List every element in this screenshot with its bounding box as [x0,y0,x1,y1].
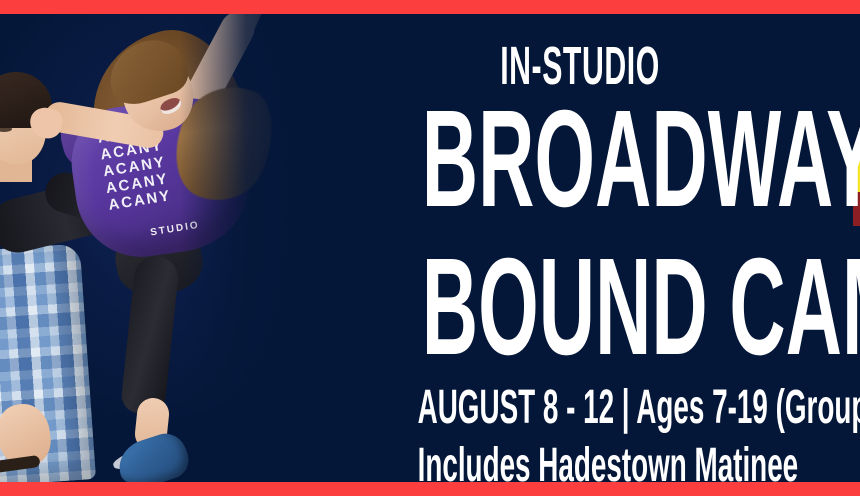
detail-line-1: AUGUST 8 - 12 | Ages 7-19 (Grouped by Ag… [418,384,743,432]
broadway-bound-camp-banner: ACANY ACANY ACANY ACANY ACANY STUDIO IN-… [0,0,860,496]
bottom-accent-rule [0,482,860,496]
top-accent-rule [0,0,860,14]
banner-copy: IN-STUDIO BROADWAY BOUND CAMP AUGUST 8 -… [300,14,860,482]
dancers-photo: ACANY ACANY ACANY ACANY ACANY STUDIO [0,14,300,482]
headline-line-1: BROADWAY [422,96,738,223]
photo-gradient-fade [180,14,300,482]
headline-line-2: BOUND CAMP [422,244,738,371]
